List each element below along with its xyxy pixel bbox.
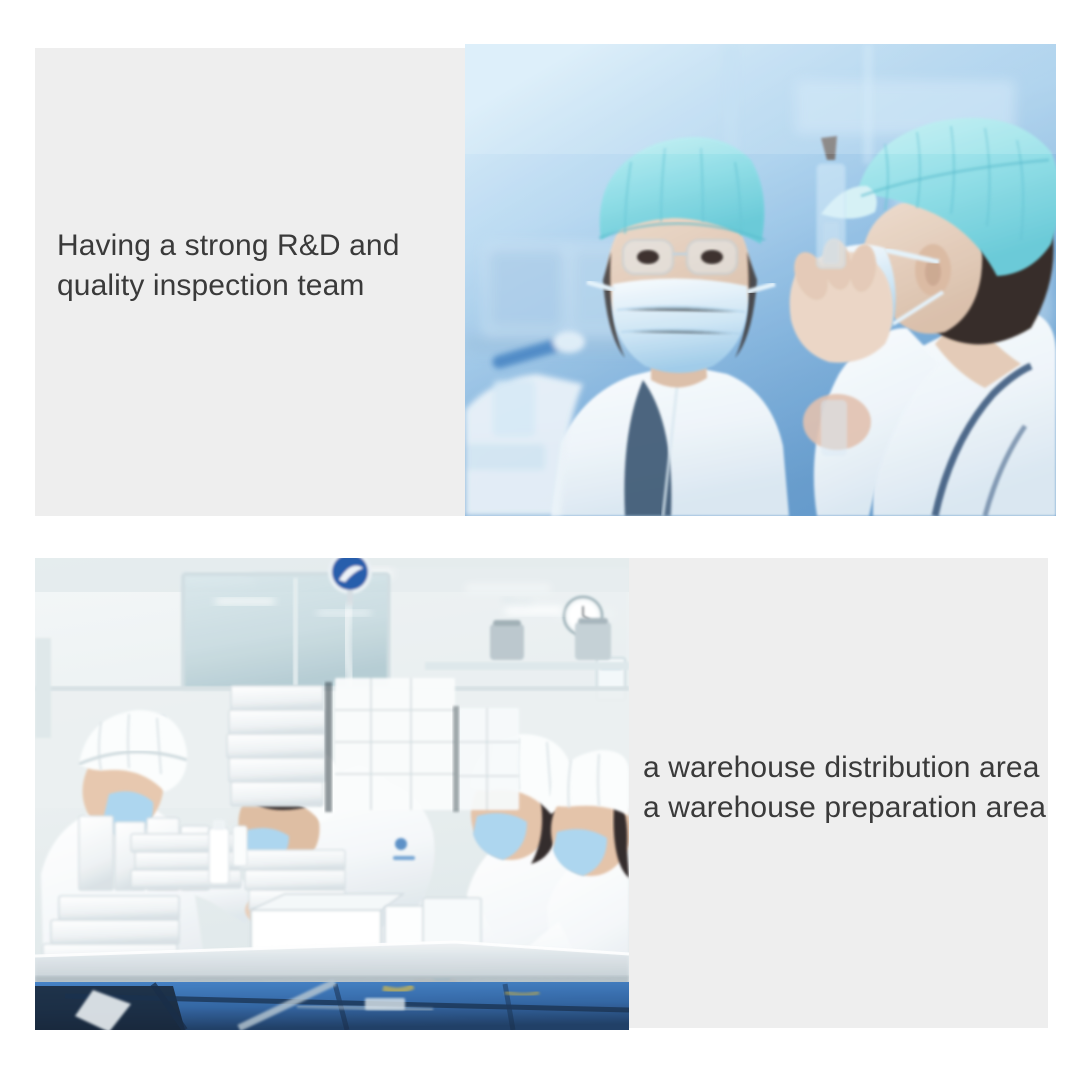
warehouse-packing-photo xyxy=(35,558,629,1030)
caption-rd-quality: Having a strong R&D and quality inspecti… xyxy=(57,226,457,305)
caption-line-1: Having a strong R&D and xyxy=(57,226,457,266)
caption-line-2: quality inspection team xyxy=(57,266,457,306)
lab-quality-inspection-photo xyxy=(465,44,1056,516)
section-warehouse: a warehouse distribution area a warehous… xyxy=(35,558,1048,1030)
warehouse-photo-illustration xyxy=(35,558,629,1030)
banner-page: Having a strong R&D and quality inspecti… xyxy=(0,0,1080,1080)
caption-line-1: a warehouse distribution area xyxy=(643,748,1063,788)
caption-line-2: a warehouse preparation area xyxy=(643,788,1063,828)
caption-warehouse: a warehouse distribution area a warehous… xyxy=(643,748,1063,827)
lab-photo-illustration xyxy=(465,44,1056,516)
section-rd-quality: Having a strong R&D and quality inspecti… xyxy=(35,44,1056,516)
